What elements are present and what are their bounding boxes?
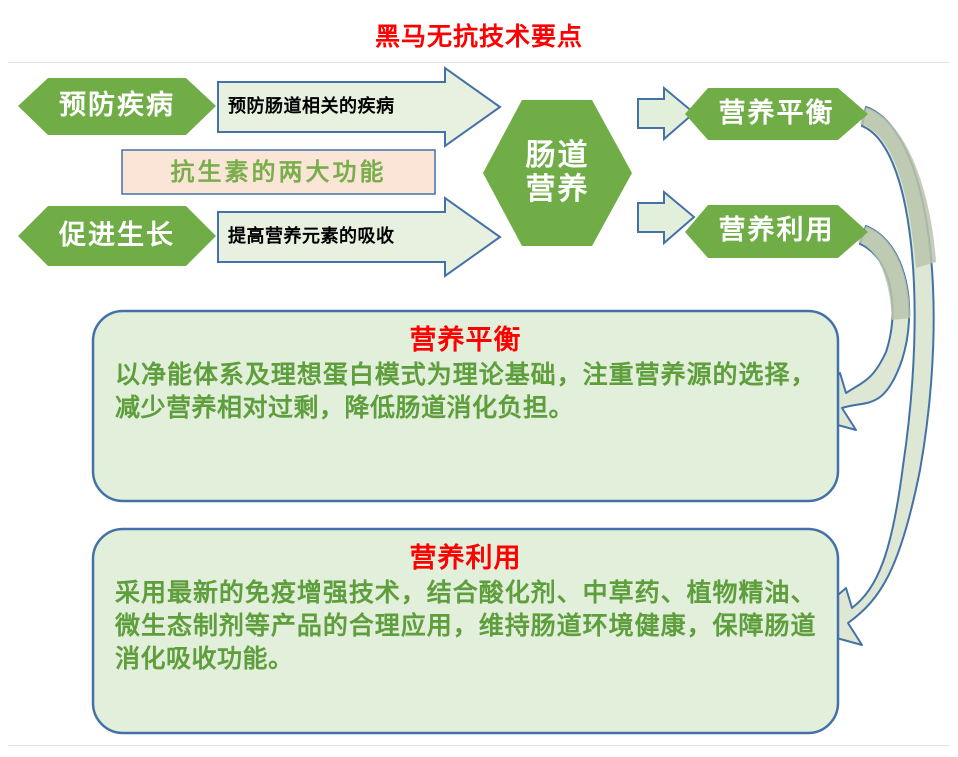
detail-body-utilization: 采用最新的免疫增强技术，结合酸化剂、中草药、植物精油、微生态制剂等产品的合理应用… (115, 576, 816, 675)
shape-promote-growth (18, 206, 216, 266)
block-arrow-promote-growth (218, 198, 500, 276)
slide-canvas: 黑马无抗技术要点 (0, 0, 958, 757)
shape-nutrition-balance (685, 88, 868, 140)
detail-body-balance: 以净能体系及理想蛋白模式为理论基础，注重营养源的选择，减少营养相对过剩，降低肠道… (115, 358, 816, 424)
detail-heading-balance: 营养平衡 (115, 325, 816, 356)
block-arrow-prevent-disease (218, 68, 500, 146)
shape-gut-nutrition (483, 100, 632, 246)
detail-panel-balance[interactable]: 营养平衡 以净能体系及理想蛋白模式为理论基础，注重营养源的选择，减少营养相对过剩… (93, 311, 838, 501)
block-arrow-to-utilization (638, 192, 694, 243)
curve-shade-lower (858, 226, 910, 320)
detail-heading-utilization: 营养利用 (115, 543, 816, 574)
shape-prevent-disease (18, 78, 216, 135)
caption-box-antibiotic-functions (122, 150, 435, 194)
detail-panel-utilization[interactable]: 营养利用 采用最新的免疫增强技术，结合酸化剂、中草药、植物精油、微生态制剂等产品… (93, 529, 838, 733)
shape-nutrition-utilization (685, 205, 868, 258)
